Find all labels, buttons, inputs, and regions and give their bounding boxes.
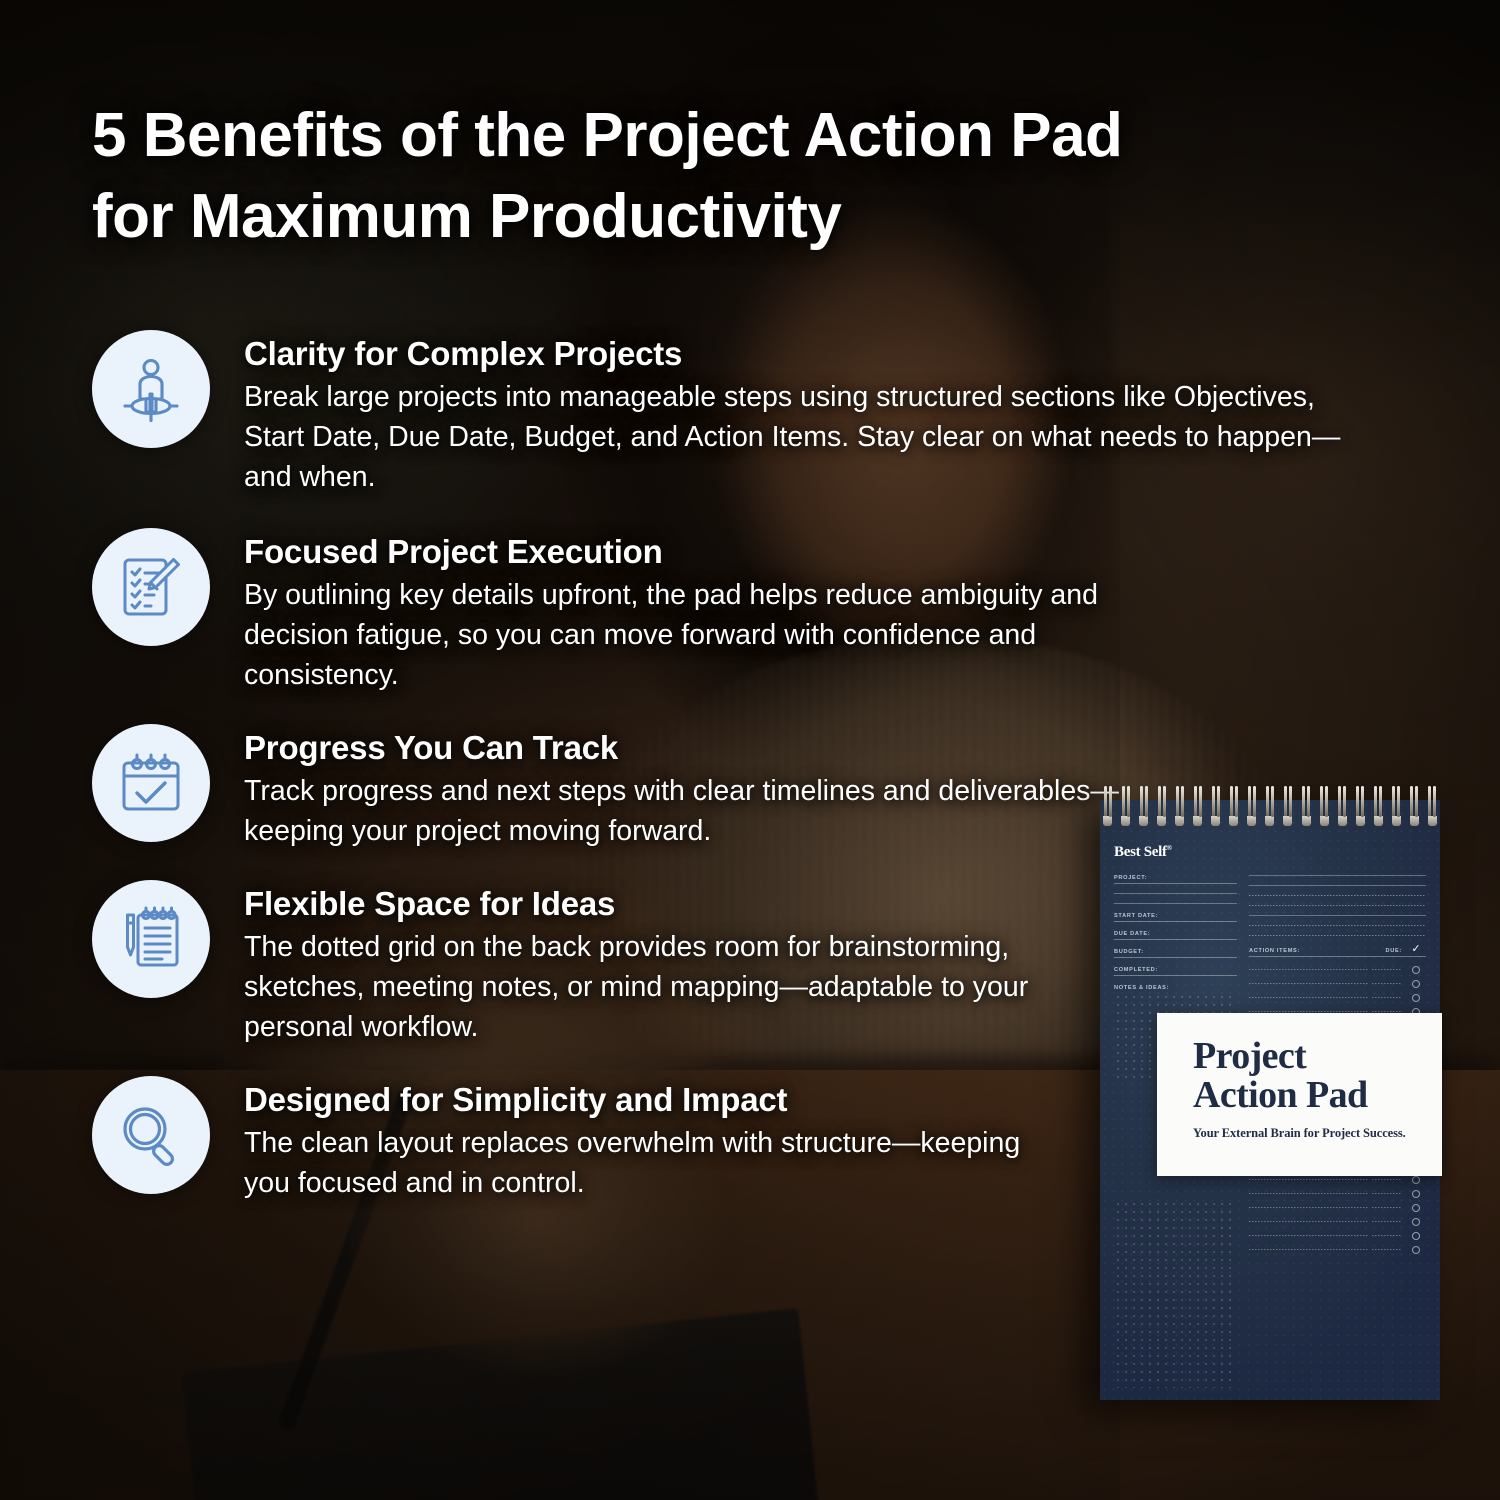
blank-write-line xyxy=(1249,915,1426,916)
notepad-with-pen-icon xyxy=(92,880,210,998)
blank-write-line xyxy=(1249,875,1426,876)
checkmark-icon: ✓ xyxy=(1406,945,1426,954)
action-item-row xyxy=(1249,1190,1426,1198)
benefit-body: The dotted grid on the back provides roo… xyxy=(244,928,1074,1048)
person-on-target-icon xyxy=(92,330,210,448)
notepad-lower-grid xyxy=(1114,1200,1426,1388)
field-start-date: START DATE: xyxy=(1114,913,1237,922)
benefit-title: Designed for Simplicity and Impact xyxy=(244,1080,1074,1120)
action-item-row xyxy=(1249,980,1426,988)
benefit-body: Break large projects into manageable ste… xyxy=(244,378,1359,498)
checkbox-circle[interactable] xyxy=(1406,994,1426,1002)
field-budget: BUDGET: xyxy=(1114,949,1237,958)
field-project: PROJECT: xyxy=(1114,875,1237,884)
spiral-coil xyxy=(1283,786,1292,826)
spiral-coil xyxy=(1247,786,1256,826)
cover-title-line-2: Action Pad xyxy=(1193,1076,1442,1115)
magnifying-glass-icon xyxy=(92,1076,210,1194)
field-completed: COMPLETED: xyxy=(1114,967,1237,976)
brand-logo: Best Self® xyxy=(1114,844,1426,861)
benefit-title: Flexible Space for Ideas xyxy=(244,884,1074,924)
spiral-coil xyxy=(1103,786,1112,826)
benefit-item: Clarity for Complex Projects Break large… xyxy=(92,330,1382,498)
spiral-coil xyxy=(1175,786,1184,826)
spiral-coil xyxy=(1211,786,1220,826)
spiral-coil xyxy=(1338,786,1347,826)
field-label: COMPLETED: xyxy=(1114,967,1237,975)
brand-trademark: ® xyxy=(1167,844,1172,852)
spiral-coil xyxy=(1392,786,1401,826)
spiral-coil xyxy=(1121,786,1130,826)
spiral-coil xyxy=(1410,786,1419,826)
blank-write-line xyxy=(1249,885,1426,886)
benefit-body: By outlining key details upfront, the pa… xyxy=(244,576,1144,696)
benefit-item: Focused Project Execution By outlining k… xyxy=(92,528,1382,696)
dotted-write-line xyxy=(1249,935,1426,936)
spiral-coil xyxy=(1356,786,1365,826)
benefit-title: Clarity for Complex Projects xyxy=(244,334,1359,374)
field-label: DUE DATE: xyxy=(1114,931,1237,939)
field-label: START DATE: xyxy=(1114,913,1237,921)
dotted-write-line xyxy=(1249,925,1426,926)
checklist-with-pen-icon xyxy=(92,528,210,646)
checkbox-circle[interactable] xyxy=(1406,966,1426,974)
spiral-coil xyxy=(1302,786,1311,826)
notes-dot-grid-lower xyxy=(1114,1200,1237,1388)
calendar-check-icon xyxy=(92,724,210,842)
field-label: ACTION ITEMS: xyxy=(1249,948,1368,954)
action-items-header: ACTION ITEMS: DUE: ✓ xyxy=(1249,945,1426,954)
spiral-coil xyxy=(1320,786,1329,826)
field-label: NOTES & IDEAS: xyxy=(1114,985,1237,993)
page-title: 5 Benefits of the Project Action Pad for… xyxy=(92,96,1382,257)
benefit-title: Progress You Can Track xyxy=(244,728,1144,768)
spiral-coil xyxy=(1374,786,1383,826)
spiral-coil xyxy=(1428,786,1437,826)
spiral-coil xyxy=(1157,786,1166,826)
checkbox-circle[interactable] xyxy=(1406,1190,1426,1198)
headline-line-2: for Maximum Productivity xyxy=(92,177,1382,258)
cover-title-line-1: Project xyxy=(1193,1037,1442,1076)
brand-logo-text: Best Self xyxy=(1114,844,1167,860)
field-label: DUE: xyxy=(1372,948,1402,954)
product-cover-card: Project Action Pad Your External Brain f… xyxy=(1157,1013,1442,1176)
field-label: PROJECT: xyxy=(1114,875,1237,883)
benefit-body: Track progress and next steps with clear… xyxy=(244,772,1144,852)
action-item-row xyxy=(1249,966,1426,974)
blank-write-line xyxy=(1114,893,1237,894)
blank-write-line xyxy=(1114,903,1237,904)
field-label: BUDGET: xyxy=(1114,949,1237,957)
checkbox-circle[interactable] xyxy=(1406,980,1426,988)
dotted-write-line xyxy=(1249,905,1426,906)
cover-tagline: Your External Brain for Project Success. xyxy=(1193,1126,1442,1141)
dotted-write-line xyxy=(1249,895,1426,896)
action-item-row xyxy=(1249,994,1426,1002)
spiral-coil xyxy=(1229,786,1238,826)
benefit-title: Focused Project Execution xyxy=(244,532,1144,572)
headline-line-1: 5 Benefits of the Project Action Pad xyxy=(92,101,1122,170)
action-item-row xyxy=(1249,1176,1426,1184)
field-notes-ideas: NOTES & IDEAS: xyxy=(1114,985,1237,993)
spiral-binding xyxy=(1098,786,1442,830)
field-due-date: DUE DATE: xyxy=(1114,931,1237,940)
spiral-coil xyxy=(1193,786,1202,826)
spiral-coil xyxy=(1139,786,1148,826)
spiral-coil xyxy=(1265,786,1274,826)
benefit-body: The clean layout replaces overwhelm with… xyxy=(244,1124,1074,1204)
checkbox-circle[interactable] xyxy=(1406,1176,1426,1184)
